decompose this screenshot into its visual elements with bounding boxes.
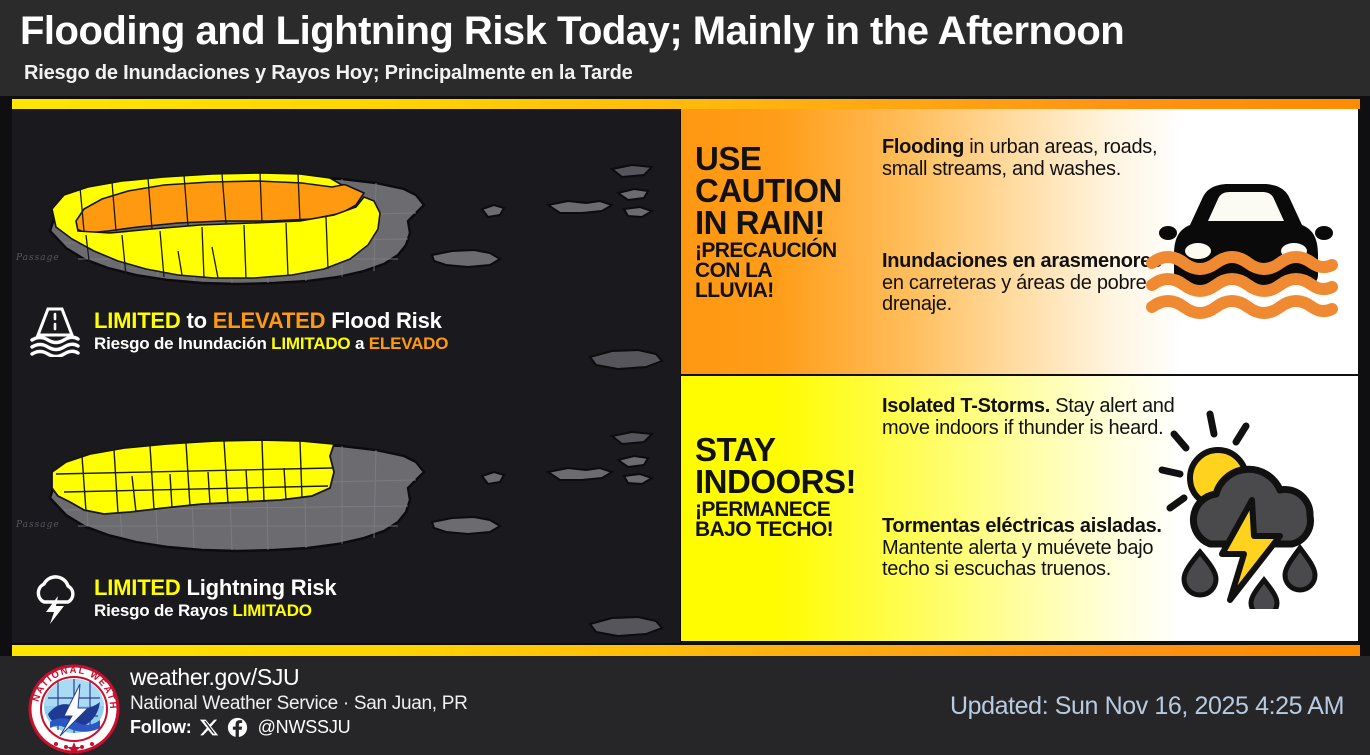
lightning-info-panel: STAY INDOORS! ¡PERMANECE BAJO TECHO! Iso… [681,376,1358,641]
flood-legend-spanish: Riesgo de Inundación LIMITADO a ELEVADO [94,335,448,353]
flood-cta-spanish: ¡PRECAUCIÓN CON LA LLUVIA! [695,241,875,301]
lightning-call-to-action: STAY INDOORS! ¡PERMANECE BAJO TECHO! [681,376,866,641]
footer-follow-row: Follow: @NWSSJU [130,717,468,738]
flood-legend-text: LIMITED to ELEVATED Flood Risk Riesgo de… [94,310,448,353]
flood-legend-english: LIMITED to ELEVATED Flood Risk [94,310,448,333]
footer-office-name: National Weather Service · San Juan, PR [130,691,468,716]
lightning-description: Isolated T-Storms. Stay alert and move i… [866,376,1158,641]
content-area: Passage [0,109,1370,643]
footer-website-link[interactable]: weather.gov/SJU [130,664,468,691]
lightning-risk-legend: LIMITED Lightning Risk Riesgo de Rayos L… [28,572,336,624]
road-into-water-icon [28,305,82,357]
weather-infographic: Flooding and Lightning Risk Today; Mainl… [0,0,1370,755]
lightning-risk-map[interactable]: Passage LIMITED Lightning Risk Riesgo de… [12,376,680,641]
facebook-icon[interactable] [227,717,248,738]
map-column: Passage [12,109,680,643]
ocean-label-mona-passage-2: Passage [16,520,60,530]
car-in-floodwater-icon [1158,109,1358,374]
flood-risk-map[interactable]: Passage [12,109,680,374]
follow-label: Follow: [130,717,192,738]
x-twitter-icon[interactable] [199,717,220,738]
lightning-cta-english: STAY INDOORS! [695,434,875,498]
footer-agency-info: weather.gov/SJU National Weather Service… [130,664,468,738]
lightning-legend-english: LIMITED Lightning Risk [94,577,336,600]
ocean-label-mona-passage: Passage [16,253,60,263]
lightning-legend-text: LIMITED Lightning Risk Riesgo de Rayos L… [94,577,336,620]
page-title: Flooding and Lightning Risk Today; Mainl… [20,6,1350,56]
lightning-desc-spanish: Tormentas eléctricas aisladas. Mantente … [882,516,1182,581]
accent-bar-bottom [12,645,1360,656]
flood-info-panel: USE CAUTION IN RAIN! ¡PRECAUCIÓN CON LA … [681,109,1358,374]
lightning-legend-spanish: Riesgo de Rayos LIMITADO [94,602,336,620]
flood-cta-english: USE CAUTION IN RAIN! [695,143,875,239]
accent-bar-top [12,99,1360,109]
flood-desc-english: Flooding in urban areas, roads, small st… [882,137,1182,180]
nws-seal-logo: NATIONAL WEATHER SERVICE [26,664,122,754]
sun-thunderstorm-rain-icon [1158,376,1358,641]
flood-risk-legend: LIMITED to ELEVATED Flood Risk Riesgo de… [28,305,448,357]
flood-desc-spanish: Inundaciones en arasmenores en carretera… [882,251,1182,316]
cloud-lightning-icon [28,572,82,624]
header-bar: Flooding and Lightning Risk Today; Mainl… [0,0,1370,96]
lightning-cta-spanish: ¡PERMANECE BAJO TECHO! [695,500,875,540]
info-column: USE CAUTION IN RAIN! ¡PRECAUCIÓN CON LA … [681,109,1358,643]
last-updated-timestamp: Updated: Sun Nov 16, 2025 4:25 AM [950,692,1344,721]
flood-description: Flooding in urban areas, roads, small st… [866,109,1158,374]
flood-call-to-action: USE CAUTION IN RAIN! ¡PRECAUCIÓN CON LA … [681,109,866,374]
footer-social-handle: @NWSSJU [258,717,351,738]
page-subtitle-spanish: Riesgo de Inundaciones y Rayos Hoy; Prin… [24,60,1354,86]
